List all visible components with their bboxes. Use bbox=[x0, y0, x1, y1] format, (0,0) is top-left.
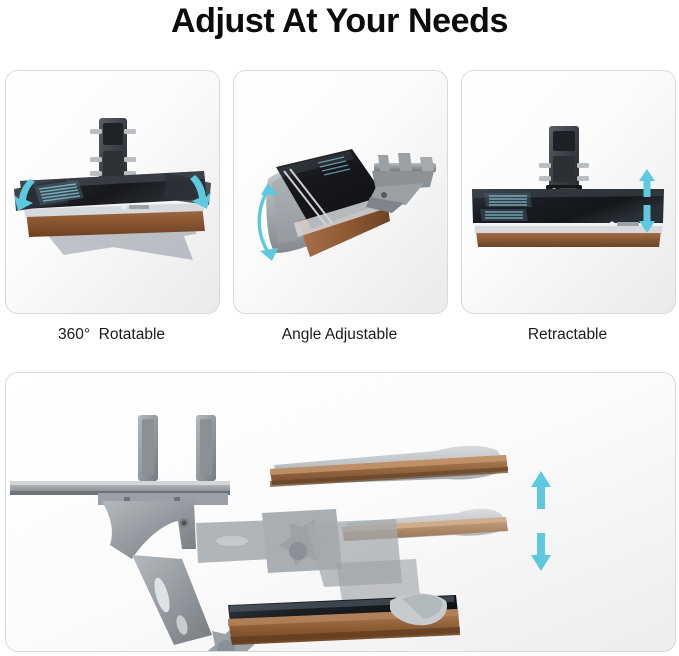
page-title: Adjust At Your Needs bbox=[0, 2, 679, 41]
feature-panel-height: 5.8″ Height Adjustable bbox=[5, 372, 676, 652]
brand-logo bbox=[121, 204, 149, 209]
infographic-page: Adjust At Your Needs bbox=[0, 0, 679, 656]
retractable-illustration bbox=[462, 71, 675, 313]
wrist-pad-pattern bbox=[480, 193, 532, 221]
caption-rotatable: 360° Rotatable bbox=[5, 326, 218, 344]
keyboard-tray bbox=[14, 171, 211, 237]
brand-logo bbox=[609, 221, 639, 226]
keyboard-tray bbox=[472, 189, 664, 247]
height-illustration bbox=[6, 373, 675, 651]
caption-angle: Angle Adjustable bbox=[233, 326, 446, 344]
caption-retractable: Retractable bbox=[461, 326, 674, 344]
feature-panel-angle: 43° bbox=[233, 70, 448, 314]
feature-panel-retractable bbox=[461, 70, 676, 314]
feature-panel-rotatable bbox=[5, 70, 220, 314]
angle-illustration bbox=[234, 71, 447, 313]
rotatable-illustration bbox=[6, 71, 219, 313]
